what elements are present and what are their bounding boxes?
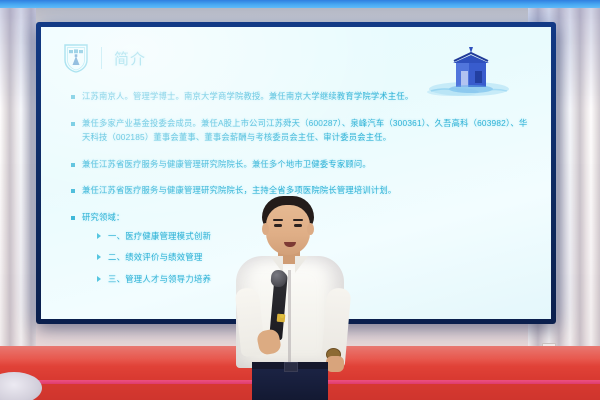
- presenter-belt-buckle: [284, 362, 298, 372]
- bullet-marker-icon: [71, 216, 75, 220]
- presenter-eyebrow-left: [273, 219, 283, 221]
- research-area-label: 二、绩效评价与绩效管理: [108, 251, 203, 264]
- slide-title: 简介: [114, 48, 146, 69]
- presenter-eye-left: [274, 224, 282, 227]
- bullet-text: 兼任江苏省医疗服务与健康管理研究院院长。兼任多个地市卫健委专家顾问。: [82, 157, 371, 172]
- research-area-label: 一、医疗健康管理模式创新: [108, 230, 211, 243]
- research-area-label: 三、管理人才与领导力培养: [108, 273, 211, 286]
- bullet-marker-icon: [71, 189, 75, 193]
- sub-bullet-arrow-icon: [97, 233, 101, 239]
- presenter-face: [266, 205, 310, 255]
- stage-curtain-left: [0, 8, 36, 368]
- presenter-eye-right: [294, 224, 302, 227]
- presenter-collar-right: [295, 256, 308, 273]
- conference-stage-scene: 简介 江苏南京人。管理学博士。南京大学商学院教授。兼任南京大学: [0, 0, 600, 400]
- bullet-item: 兼任江苏省医疗服务与健康管理研究院院长。兼任多个地市卫健委专家顾问。: [71, 157, 529, 172]
- presenter-lapel-pin: [280, 314, 284, 318]
- university-crest-icon: [63, 43, 89, 73]
- presenter-ear-left: [262, 223, 269, 235]
- sub-bullet-arrow-icon: [97, 276, 101, 282]
- slide-header: 简介: [63, 43, 146, 73]
- research-areas-heading: 研究领域：: [82, 210, 125, 225]
- bullet-marker-icon: [71, 163, 75, 167]
- bullet-item: 兼任多家产业基金投委会成员。兼任A股上市公司江苏舜天（600287）、泉峰汽车（…: [71, 116, 529, 145]
- header-divider: [101, 47, 102, 69]
- presenter-shirt-placket: [288, 270, 291, 366]
- bullet-marker-icon: [71, 95, 75, 99]
- bullet-marker-icon: [71, 122, 75, 126]
- bullet-text: 江苏南京人。管理学博士。南京大学商学院教授。兼任南京大学继续教育学院学术主任。: [82, 89, 413, 104]
- sub-bullet-arrow-icon: [97, 254, 101, 260]
- presenter-figure: [228, 196, 358, 400]
- presenter-ear-right: [307, 223, 314, 235]
- presenter-right-hand: [326, 356, 344, 372]
- bullet-text: 兼任多家产业基金投委会成员。兼任A股上市公司江苏舜天（600287）、泉峰汽车（…: [82, 116, 529, 145]
- bullet-item: 江苏南京人。管理学博士。南京大学商学院教授。兼任南京大学继续教育学院学术主任。: [71, 89, 529, 104]
- presenter-eyebrow-right: [293, 219, 303, 221]
